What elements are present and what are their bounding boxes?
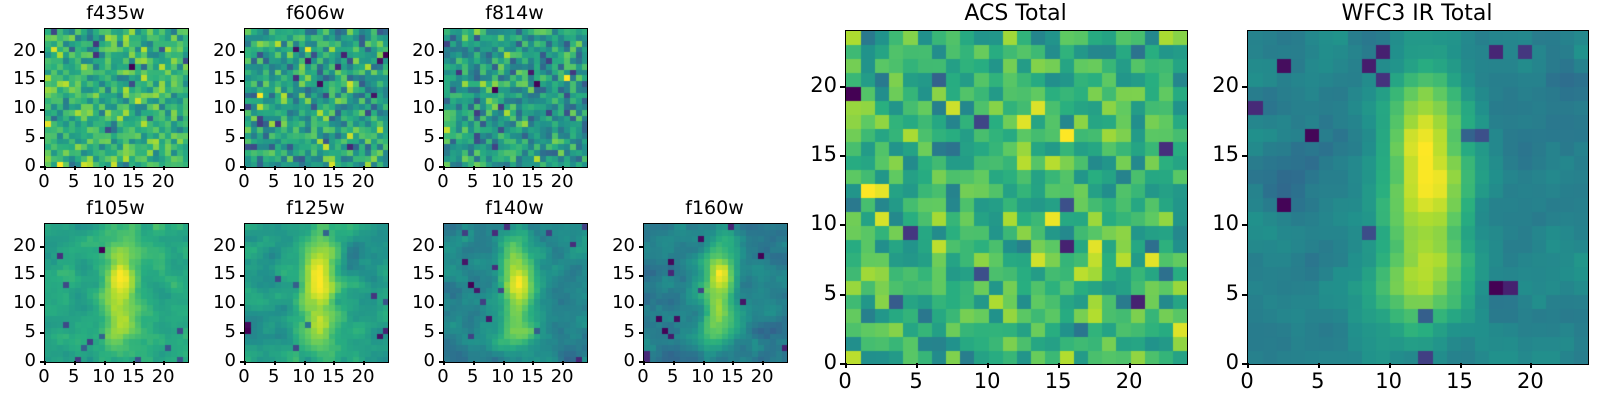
ytick-wfc3-ir-total-0: 0 [1189, 352, 1239, 373]
heatmap-image-wfc3-ir-total [1248, 31, 1588, 364]
xtick-wfc3-ir-total-20: 20 [1505, 371, 1555, 392]
panel-wfc3-ir-total: WFC3 IR Total0510152005101520 [0, 0, 1600, 400]
ytick-mark-wfc3-ir-total-15 [1242, 155, 1247, 157]
xtick-wfc3-ir-total-10: 10 [1364, 371, 1414, 392]
ytick-mark-wfc3-ir-total-10 [1242, 224, 1247, 226]
xtick-mark-wfc3-ir-total-20 [1530, 363, 1532, 368]
xtick-mark-wfc3-ir-total-5 [1318, 363, 1320, 368]
panel-title-wfc3-ir-total: WFC3 IR Total [1247, 3, 1587, 25]
heatmap-wfc3-ir-total [1247, 30, 1589, 365]
ytick-wfc3-ir-total-20: 20 [1189, 75, 1239, 96]
xtick-mark-wfc3-ir-total-10 [1389, 363, 1391, 368]
ytick-wfc3-ir-total-15: 15 [1189, 144, 1239, 165]
xtick-mark-wfc3-ir-total-0 [1247, 363, 1249, 368]
ytick-mark-wfc3-ir-total-20 [1242, 86, 1247, 88]
xtick-wfc3-ir-total-0: 0 [1222, 371, 1272, 392]
xtick-mark-wfc3-ir-total-15 [1460, 363, 1462, 368]
xtick-wfc3-ir-total-15: 15 [1435, 371, 1485, 392]
ytick-wfc3-ir-total-10: 10 [1189, 213, 1239, 234]
xtick-wfc3-ir-total-5: 5 [1293, 371, 1343, 392]
ytick-mark-wfc3-ir-total-5 [1242, 294, 1247, 296]
ytick-wfc3-ir-total-5: 5 [1189, 283, 1239, 304]
